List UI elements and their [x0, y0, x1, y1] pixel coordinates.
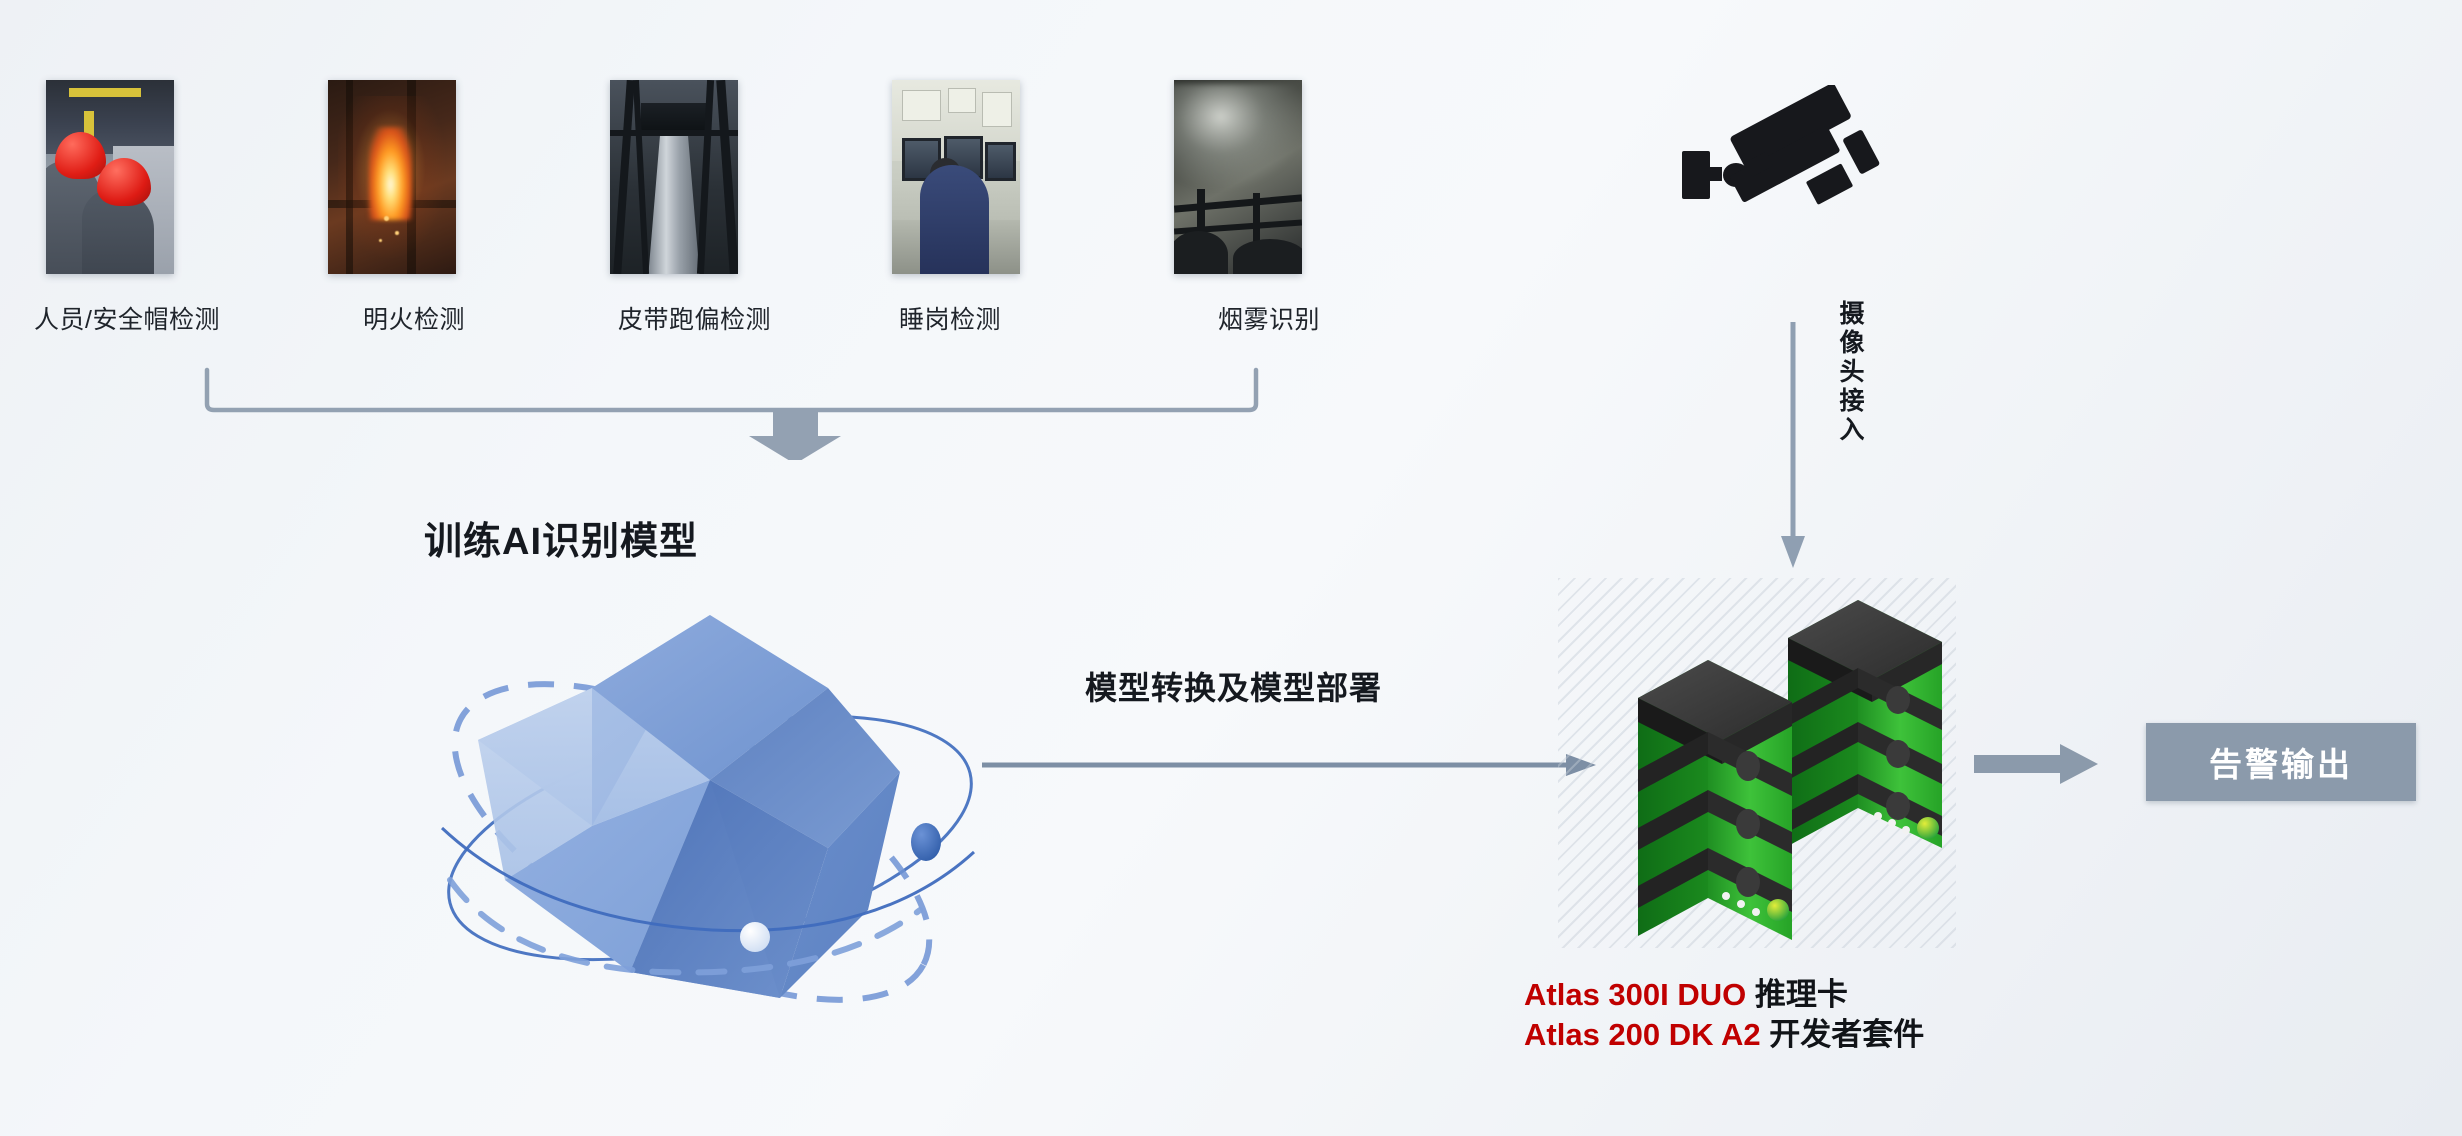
scenario-label: 明火检测 — [363, 300, 465, 336]
camera-ingest-char: 入 — [1832, 416, 1872, 445]
hardware-suffix: 开发者套件 — [1769, 1017, 1924, 1052]
alert-output-label: 告警输出 — [2209, 738, 2353, 786]
hardware-model: Atlas 300I DUO — [1524, 977, 1746, 1012]
cctv-camera-icon — [1680, 85, 1900, 235]
furnace-flame-photo — [328, 80, 456, 274]
workers-red-helmets-photo — [46, 80, 174, 274]
scenario-thumbnail — [610, 80, 738, 274]
merge-bracket-arrow-icon — [190, 360, 1290, 460]
arrow-right-thin-icon — [980, 745, 1600, 790]
scenario-label: 烟雾识别 — [1218, 300, 1320, 336]
hardware-item: Atlas 300I DUO 推理卡 — [1524, 975, 1924, 1015]
camera-ingest-char: 头 — [1832, 358, 1872, 387]
ai-model-polyhedron-icon — [360, 580, 1060, 1060]
scenario-label: 人员/安全帽检测 — [34, 300, 220, 336]
diagram-canvas: 人员/安全帽检测 明火检测 皮带跑偏检测 — [0, 0, 2462, 1136]
camera-ingest-char: 接 — [1832, 387, 1872, 416]
camera-ingest-char: 摄 — [1832, 300, 1872, 329]
scenario-thumbnail — [328, 80, 456, 274]
scenario-thumbnail — [46, 80, 174, 274]
scenario-label: 皮带跑偏检测 — [618, 300, 771, 336]
smoke-coal-yard-photo — [1174, 80, 1302, 274]
arrow-right-block-icon — [1972, 742, 2102, 791]
camera-ingest-label: 摄 像 头 接 入 — [1832, 300, 1872, 445]
scenario-thumbnail — [1174, 80, 1302, 274]
hardware-item: Atlas 200 DK A2 开发者套件 — [1524, 1015, 1924, 1055]
alert-output-badge[interactable]: 告警输出 — [2146, 723, 2416, 801]
camera-ingest-char: 像 — [1832, 329, 1872, 358]
hardware-suffix: 推理卡 — [1755, 977, 1848, 1012]
server-rack-icon — [1620, 580, 1960, 950]
scenario-thumbnail — [892, 80, 1020, 274]
conveyor-belt-photo — [610, 80, 738, 274]
hardware-model: Atlas 200 DK A2 — [1524, 1017, 1761, 1052]
control-room-operator-photo — [892, 80, 1020, 274]
step-label-deploy: 模型转换及模型部署 — [1085, 663, 1382, 709]
arrow-down-thin-icon — [1770, 320, 1816, 575]
step-label-train: 训练AI识别模型 — [424, 510, 698, 565]
hardware-list: Atlas 300I DUO 推理卡 Atlas 200 DK A2 开发者套件 — [1524, 975, 1924, 1056]
scenario-label: 睡岗检测 — [899, 300, 1001, 336]
